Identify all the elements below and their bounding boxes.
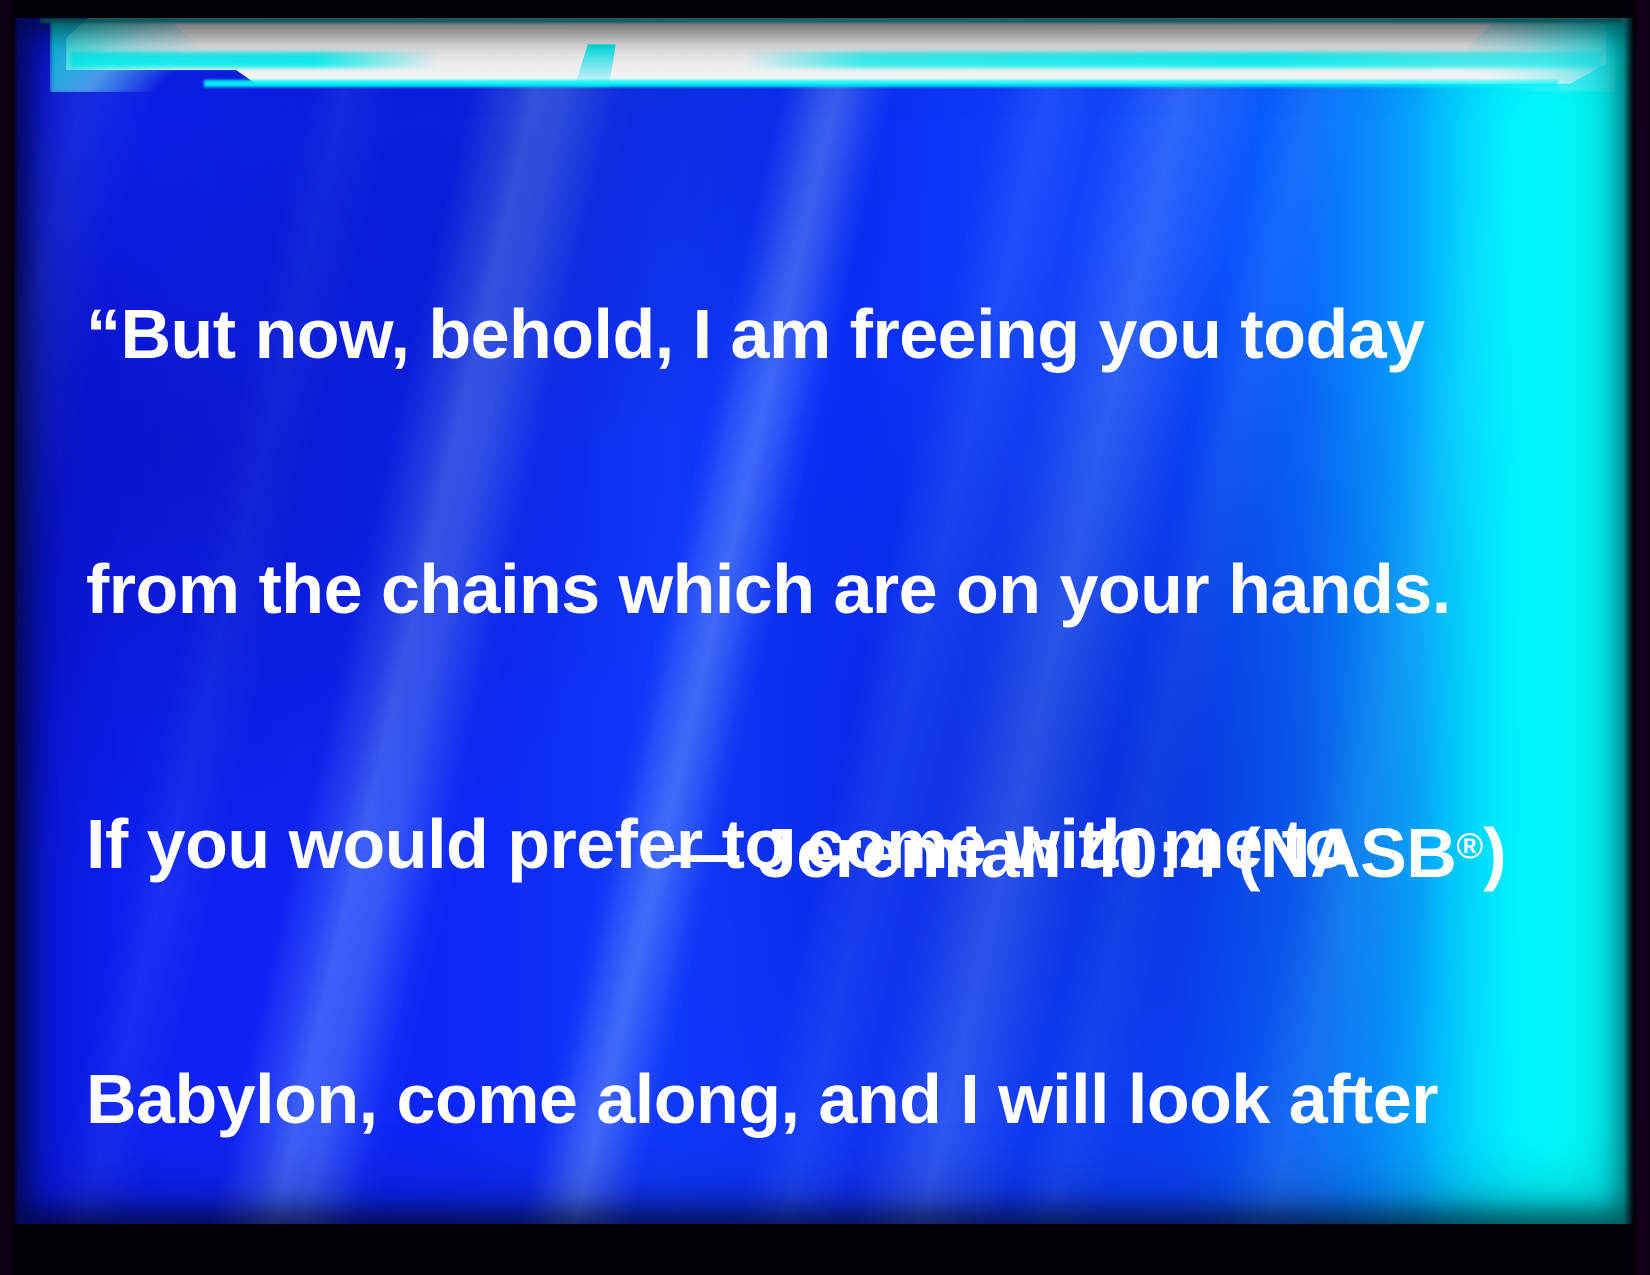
verse-attribution: — Jeremiah 40:4 (NASB®) xyxy=(86,803,1506,896)
verse-line: “But now, behold, I am freeing you today xyxy=(86,292,1516,377)
verse-background-stage: “But now, behold, I am freeing you today… xyxy=(14,18,1636,1224)
attribution-chapter-verse: 40:4 xyxy=(1080,814,1218,892)
verse-line: from the chains which are on your hands. xyxy=(86,547,1516,632)
verse-text-block: “But now, behold, I am freeing you today… xyxy=(86,122,1516,1224)
attribution-dash: — xyxy=(669,814,739,892)
attribution-translation-open: (NASB xyxy=(1237,814,1456,892)
registered-trademark-icon: ® xyxy=(1456,825,1483,866)
verse-image-card: “But now, behold, I am freeing you today… xyxy=(0,0,1650,1275)
verse-line: Babylon, come along, and I will look aft… xyxy=(86,1057,1516,1142)
attribution-book: Jeremiah xyxy=(758,814,1061,892)
attribution-translation-close: ) xyxy=(1483,814,1506,892)
